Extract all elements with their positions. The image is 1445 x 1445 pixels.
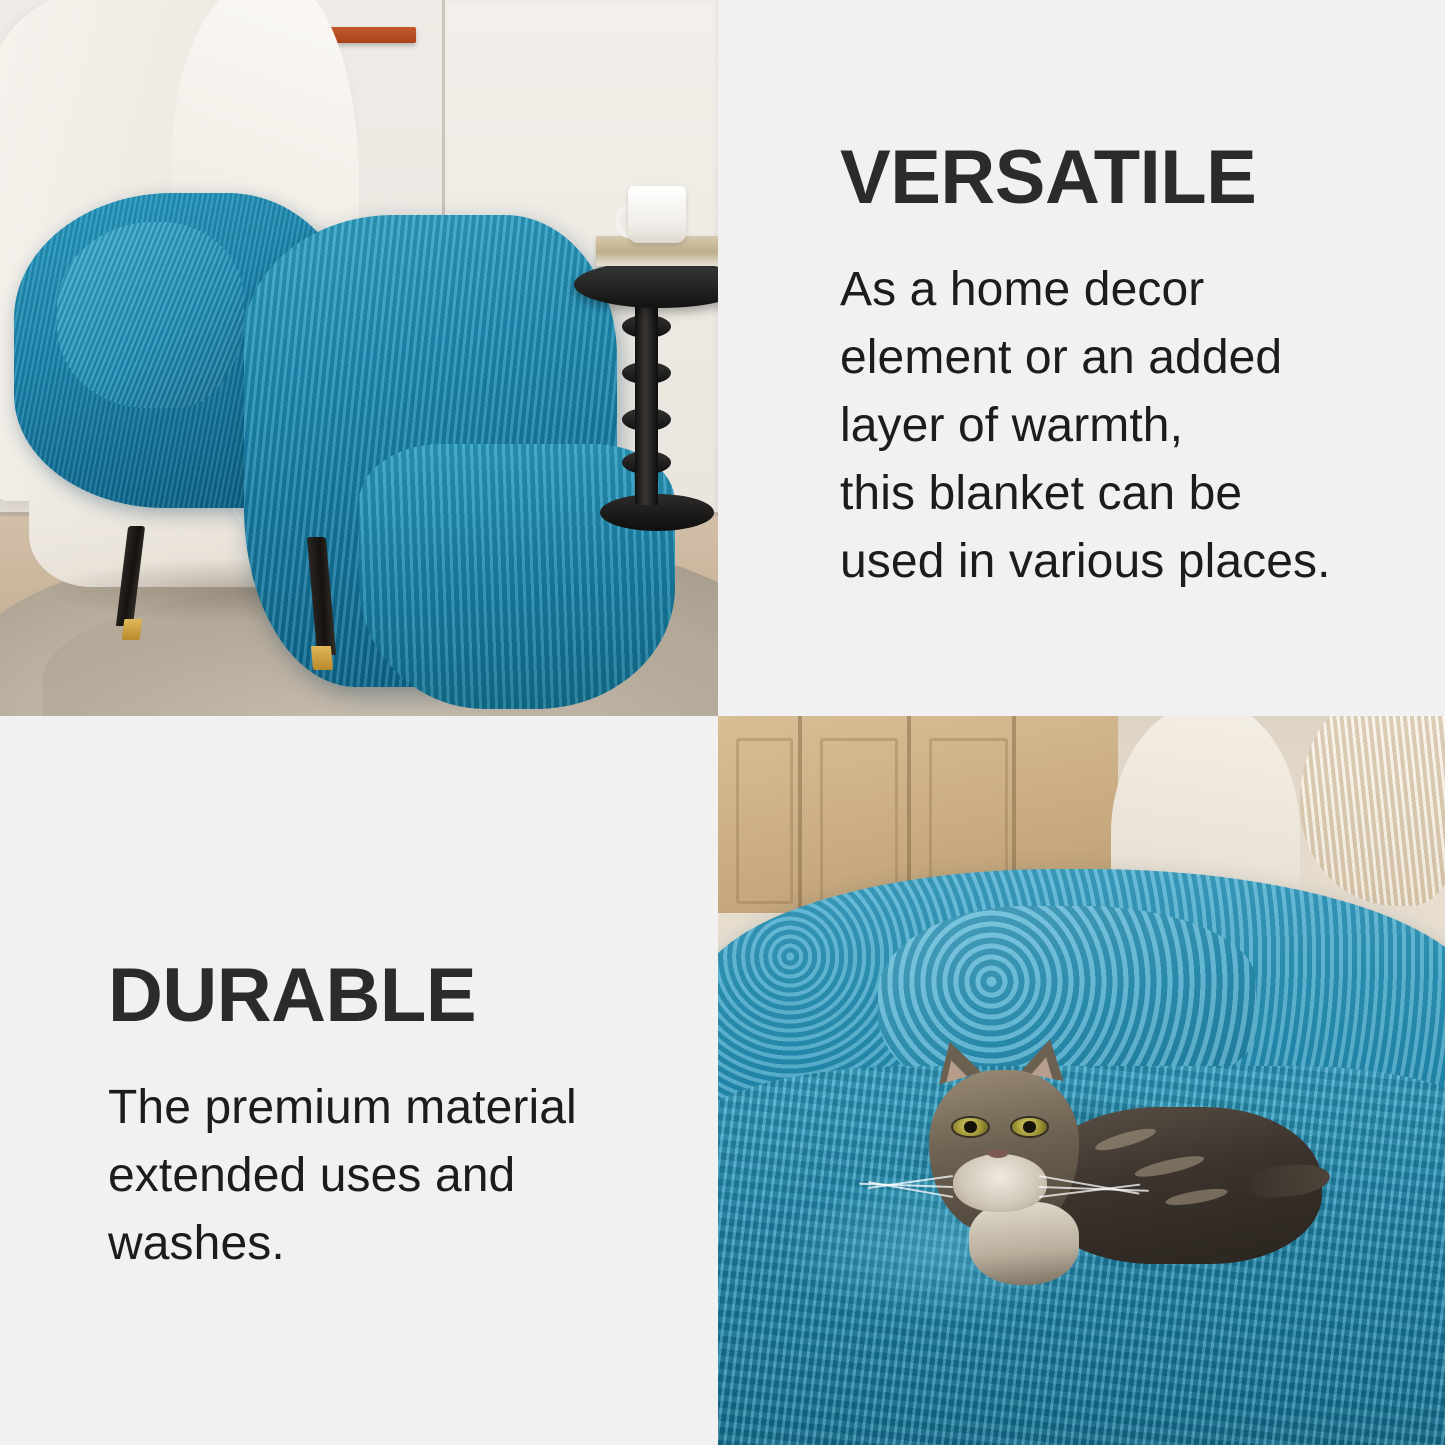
brass-leg-cap-right xyxy=(311,646,333,670)
durable-body-line-3: washes. xyxy=(108,1210,688,1278)
durable-body-line-1: The premium material xyxy=(108,1074,688,1142)
durable-body: The premium material extended uses and w… xyxy=(108,1074,688,1278)
throw-blanket-fold xyxy=(57,222,244,408)
durable-body-line-2: extended uses and xyxy=(108,1142,688,1210)
cat-pupil-right xyxy=(1023,1121,1036,1133)
cat-chest xyxy=(969,1202,1079,1286)
durable-text-panel: DURABLE The premium material extended us… xyxy=(0,716,718,1445)
living-room-scene xyxy=(0,0,718,716)
throw-blanket-pooled-hem xyxy=(359,444,675,709)
headboard-seam-1 xyxy=(798,716,802,913)
versatile-heading: VERSATILE xyxy=(840,140,1445,216)
brass-leg-cap-left xyxy=(121,619,142,640)
cat-muzzle xyxy=(953,1154,1047,1212)
headboard-inset-2 xyxy=(820,738,899,904)
cream-chair-back xyxy=(1111,716,1300,891)
tabby-cat xyxy=(922,1044,1315,1306)
white-ceramic-mug xyxy=(628,186,685,243)
cat-blanket-scene xyxy=(718,716,1445,1445)
infographic-board: VERSATILE As a home decor element or an … xyxy=(0,0,1445,1445)
headboard-inset-1 xyxy=(736,738,793,904)
versatile-body-line-2: element or an added xyxy=(840,324,1420,392)
living-room-photo xyxy=(0,0,718,716)
versatile-body-line-3: layer of warmth, xyxy=(840,392,1420,460)
cat-inner-ear-right xyxy=(1032,1055,1058,1079)
cat-on-blanket-photo xyxy=(718,716,1445,1445)
versatile-body: As a home decor element or an added laye… xyxy=(840,256,1420,596)
versatile-text-panel: VERSATILE As a home decor element or an … xyxy=(718,0,1445,716)
versatile-body-line-4: this blanket can be xyxy=(840,460,1420,528)
cat-nose xyxy=(988,1149,1008,1158)
durable-heading: DURABLE xyxy=(108,958,718,1034)
versatile-body-line-5: used in various places. xyxy=(840,528,1420,596)
side-table-pedestal xyxy=(635,297,658,505)
versatile-body-line-1: As a home decor xyxy=(840,256,1420,324)
